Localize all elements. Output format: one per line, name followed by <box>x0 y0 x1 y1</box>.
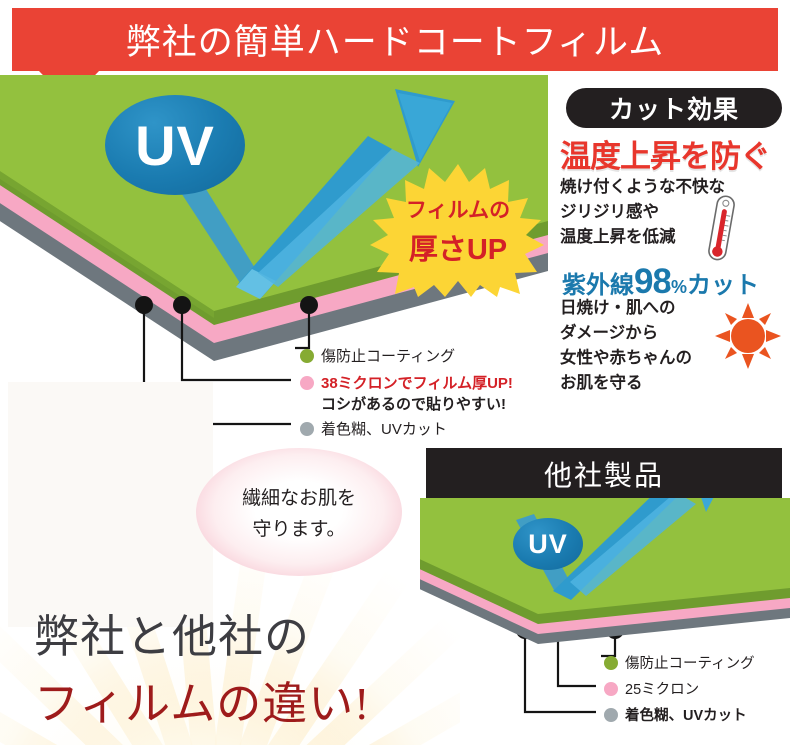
mother-baby-photo <box>8 382 213 627</box>
bubble-line2: 守ります。 <box>252 514 345 541</box>
page-title: 弊社の簡単ハードコートフィルム <box>126 14 665 65</box>
layer-label: 傷防止コーティング <box>321 345 455 366</box>
legend-item: 傷防止コーティング <box>604 652 755 673</box>
layer-dot-gray-icon <box>604 708 618 722</box>
legend-item: 傷防止コーティング <box>300 345 455 366</box>
layer-dot-green-icon <box>300 349 314 363</box>
uv-label-other-film: UV <box>513 518 583 570</box>
comparison-headline-line1: 弊社と他社の <box>34 600 370 665</box>
uv-label-our-film: UV <box>105 95 245 195</box>
layer-dot-green-icon <box>604 656 618 670</box>
thermometer-icon <box>704 193 740 263</box>
uv-cut-percent: % <box>671 277 687 297</box>
sun-icon <box>714 302 782 370</box>
uv-text: UV <box>528 529 568 560</box>
other-product-label: 他社製品 <box>544 454 664 494</box>
infographic-canvas: 弊社の簡単ハードコートフィルム UV <box>0 0 790 745</box>
layer-label: コシがあるので貼りやすい! <box>321 393 506 414</box>
starburst-line1: フィルムの <box>406 194 510 224</box>
header-banner: 弊社の簡単ハードコートフィルム <box>12 8 778 71</box>
legend-item-sub: コシがあるので貼りやすい! <box>321 393 506 414</box>
comparison-headline-line2: フィルムの違い! <box>34 667 370 732</box>
legend-item: 38ミクロンでフィルム厚UP! <box>300 372 513 393</box>
uv-cut-prefix: 紫外線 <box>562 272 634 299</box>
temperature-body-text: 焼け付くような不快な ジリジリ感や 温度上昇を低減 <box>560 175 725 250</box>
uv-cut-suffix: カット <box>687 272 759 299</box>
thickness-up-starburst: フィルムの 厚さUP <box>368 163 548 298</box>
legend-item: 25ミクロン <box>604 678 699 699</box>
uv-text: UV <box>135 113 215 178</box>
layer-dot-gray-icon <box>300 422 314 436</box>
cut-effect-pill: カット効果 <box>566 88 782 128</box>
uv-body-text: 日焼け・肌への ダメージから 女性や赤ちゃんの お肌を守る <box>560 296 725 396</box>
legend-item: 着色糊、UVカット <box>300 418 447 439</box>
starburst-line2: 厚さUP <box>409 226 507 268</box>
layer-label: 38ミクロンでフィルム厚UP! <box>321 372 513 393</box>
legend-item: 着色糊、UVカット <box>604 704 747 725</box>
layer-label: 着色糊、UVカット <box>321 418 447 439</box>
layer-label: 25ミクロン <box>625 678 699 699</box>
other-film-illustration <box>420 498 790 658</box>
other-product-banner: 他社製品 <box>426 448 782 500</box>
layer-dot-pink-icon <box>300 376 314 390</box>
layer-dot-pink-icon <box>604 682 618 696</box>
temperature-heading: 温度上昇を防ぐ <box>560 131 788 176</box>
bubble-line1: 繊細なお肌を <box>242 483 356 510</box>
layer-label: 傷防止コーティング <box>625 652 755 673</box>
skin-protection-bubble: 繊細なお肌を 守ります。 <box>196 448 402 576</box>
comparison-headline: 弊社と他社の フィルムの違い! <box>34 600 370 732</box>
cut-effect-label: カット効果 <box>609 90 739 126</box>
layer-label: 着色糊、UVカット <box>625 704 747 725</box>
